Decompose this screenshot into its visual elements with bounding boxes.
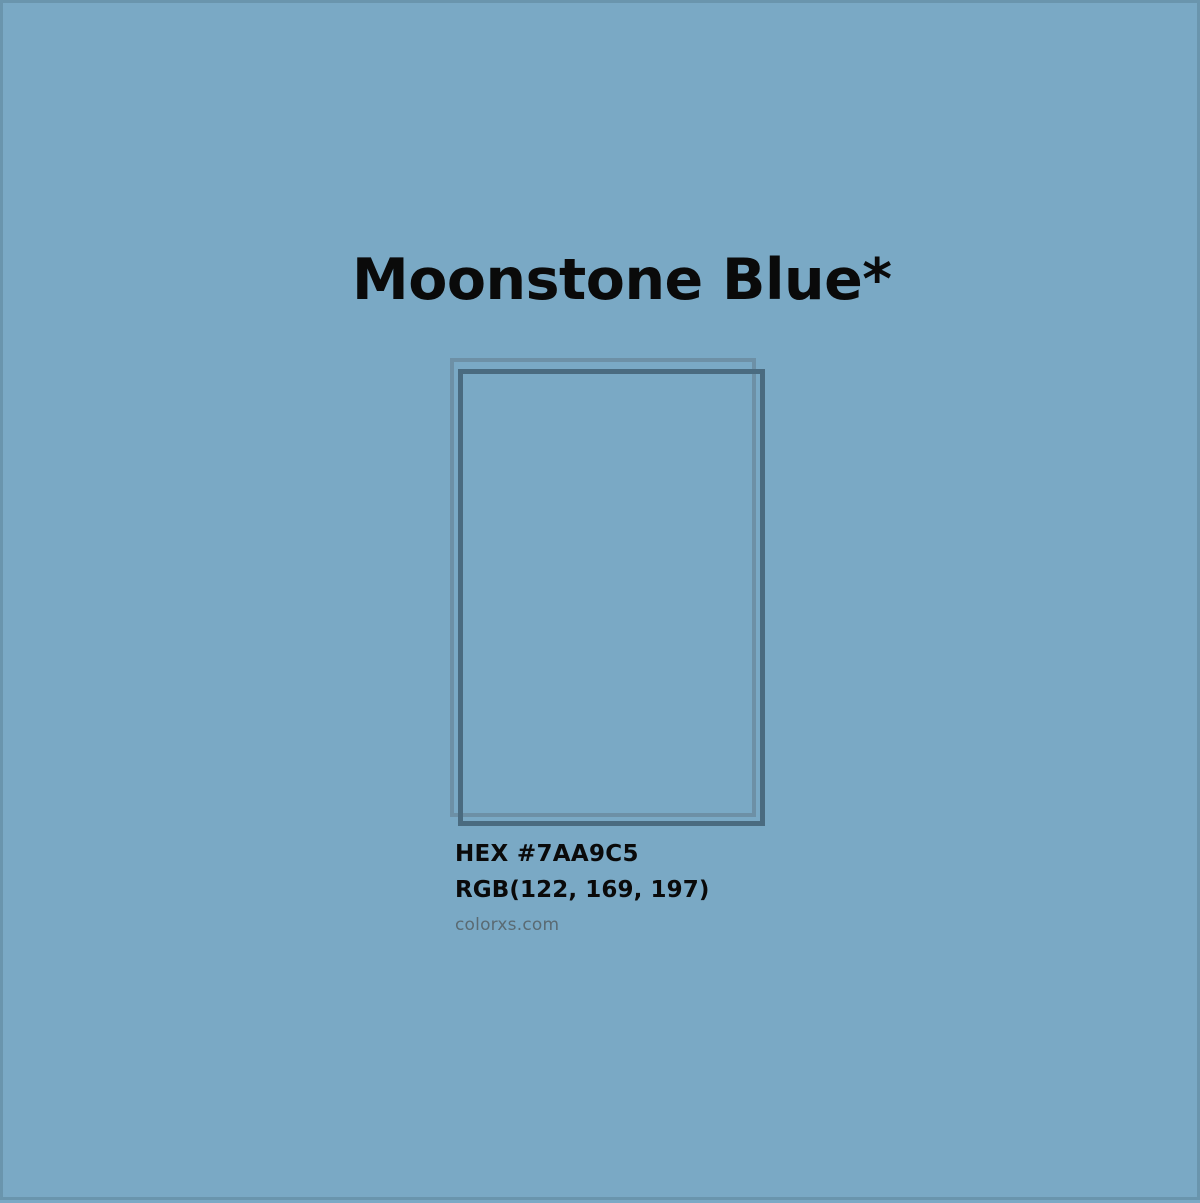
page-title: Moonstone Blue* xyxy=(352,249,892,312)
swatch-frame-back xyxy=(450,358,756,817)
color-swatch xyxy=(3,3,1200,1203)
site-credit-label: colorxs.com xyxy=(455,914,975,936)
swatch-frame-front xyxy=(458,369,765,826)
color-swatch-page: Moonstone Blue* HEX #7AA9C5 RGB(122, 169… xyxy=(0,0,1200,1200)
rgb-value-label: RGB(122, 169, 197) xyxy=(455,872,975,908)
hex-value-label: HEX #7AA9C5 xyxy=(455,836,975,872)
color-details: HEX #7AA9C5 RGB(122, 169, 197) colorxs.c… xyxy=(455,836,975,936)
